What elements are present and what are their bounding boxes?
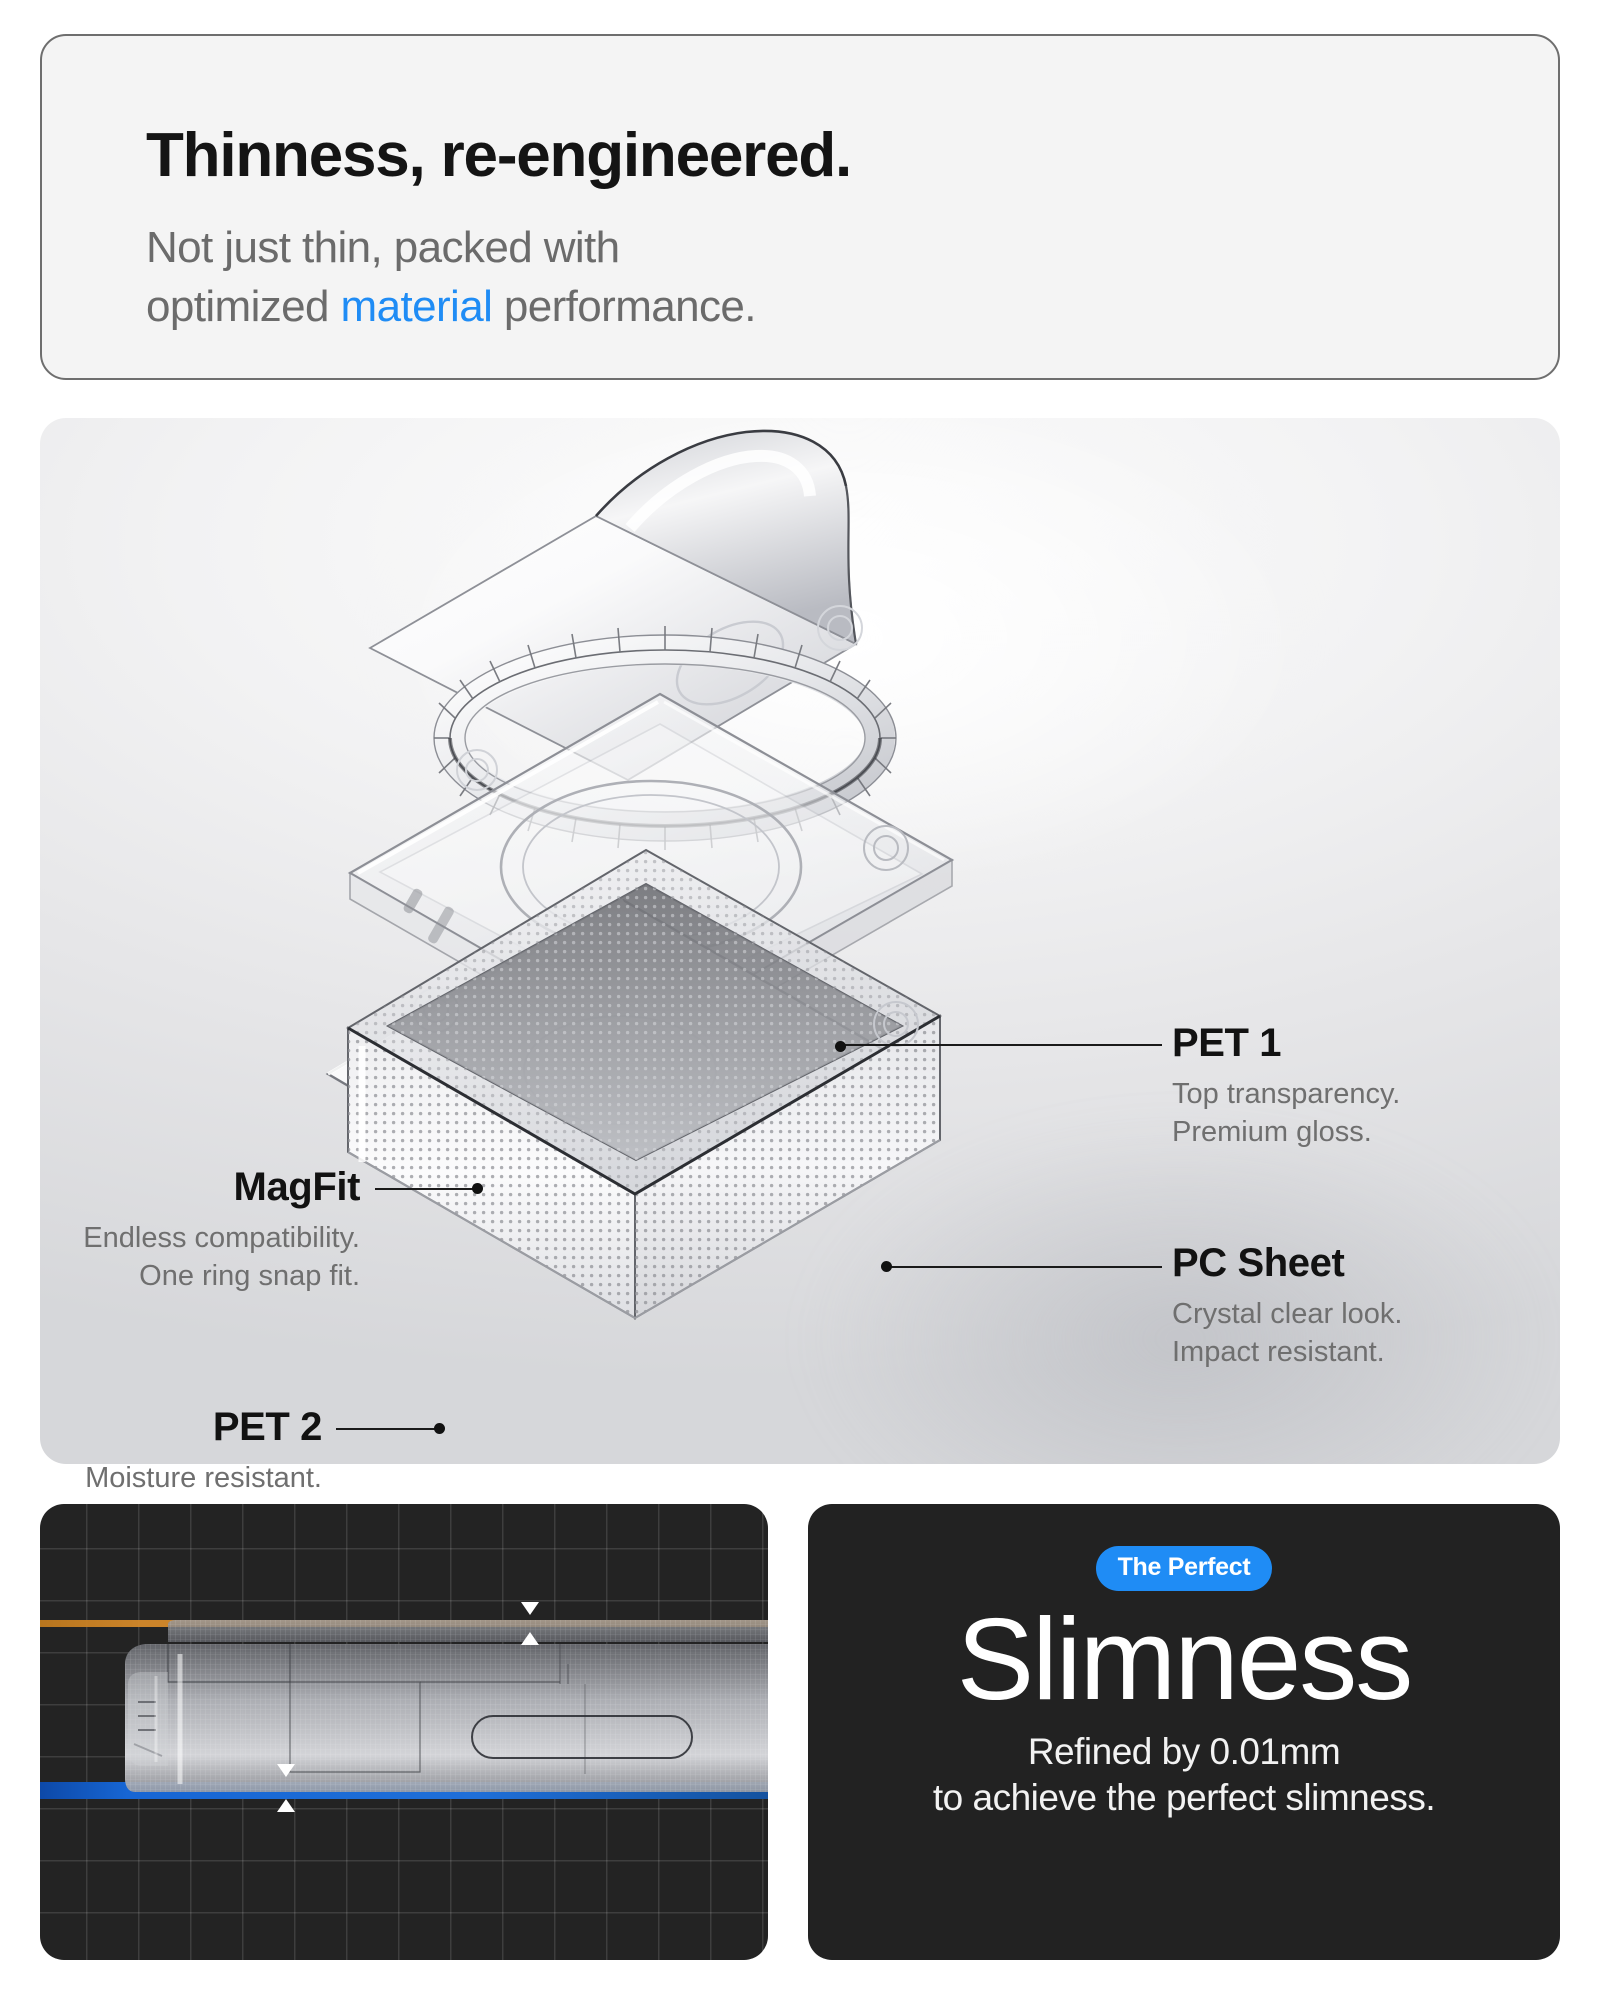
measurement-marker-top-inner xyxy=(521,1632,539,1645)
callout-desc-line1-pc-sheet: Crystal clear look. xyxy=(1172,1295,1402,1333)
subtitle-accent-word: material xyxy=(341,282,493,331)
leader-line-pet2 xyxy=(336,1428,440,1430)
slimness-subtitle: Refined by 0.01mm to achieve the perfect… xyxy=(808,1729,1560,1821)
leader-dot-pet1 xyxy=(835,1041,846,1052)
callout-title-pet-2: PET 2 xyxy=(40,1404,322,1450)
callout-desc-magfit: Endless compatibility. One ring snap fit… xyxy=(40,1219,360,1295)
page-subtitle-line2: optimized material performance. xyxy=(146,277,756,336)
callout-desc-line2-magfit: One ring snap fit. xyxy=(40,1257,360,1295)
measurement-marker-bottom-outer xyxy=(277,1764,295,1777)
case-cross-section-graphic xyxy=(40,1504,768,1960)
leader-dot-pet2 xyxy=(434,1423,445,1434)
leader-dot-pc-sheet xyxy=(881,1261,892,1272)
slimness-badge: The Perfect xyxy=(1096,1546,1273,1591)
callout-desc-line1-pet-2: Moisture resistant. xyxy=(40,1459,322,1497)
slimness-title: Slimness xyxy=(808,1597,1560,1721)
cad-measurement-panel xyxy=(40,1504,768,1960)
measurement-marker-top-outer xyxy=(521,1602,539,1615)
callout-desc-pc-sheet: Crystal clear look. Impact resistant. xyxy=(1172,1295,1402,1371)
page-subtitle-line1: Not just thin, packed with xyxy=(146,218,756,277)
page-title: Thinness, re-engineered. xyxy=(146,120,851,191)
exploded-diagram-panel: PET 1 Top transparency. Premium gloss. M… xyxy=(40,418,1560,1464)
page-subtitle: Not just thin, packed with optimized mat… xyxy=(146,218,756,336)
subtitle-post: performance. xyxy=(492,282,756,331)
callout-desc-line1-magfit: Endless compatibility. xyxy=(40,1219,360,1257)
callout-desc-line2-pc-sheet: Impact resistant. xyxy=(1172,1333,1402,1371)
callout-desc-pet-1: Top transparency. Premium gloss. xyxy=(1172,1075,1400,1151)
callout-title-pet-1: PET 1 xyxy=(1172,1020,1400,1066)
measurement-marker-bottom-inner xyxy=(277,1799,295,1812)
slimness-subtitle-line1: Refined by 0.01mm xyxy=(808,1729,1560,1775)
slimness-subtitle-line2: to achieve the perfect slimness. xyxy=(808,1775,1560,1821)
subtitle-pre: optimized xyxy=(146,282,341,331)
slimness-panel: The Perfect Slimness Refined by 0.01mm t… xyxy=(808,1504,1560,1960)
leader-dot-magfit xyxy=(472,1183,483,1194)
leader-line-pc-sheet xyxy=(886,1266,1162,1268)
callout-pc-sheet: PC Sheet Crystal clear look. Impact resi… xyxy=(1172,1240,1402,1371)
header-card: Thinness, re-engineered. Not just thin, … xyxy=(40,34,1560,380)
callout-desc-line2-pet-1: Premium gloss. xyxy=(1172,1113,1400,1151)
callout-magfit: MagFit Endless compatibility. One ring s… xyxy=(40,1164,360,1295)
callout-title-magfit: MagFit xyxy=(40,1164,360,1210)
callout-pet-1: PET 1 Top transparency. Premium gloss. xyxy=(1172,1020,1400,1151)
callout-desc-line1-pet-1: Top transparency. xyxy=(1172,1075,1400,1113)
leader-line-pet1 xyxy=(840,1044,1162,1046)
bottom-row: The Perfect Slimness Refined by 0.01mm t… xyxy=(40,1504,1560,1960)
leader-line-magfit xyxy=(375,1188,477,1190)
callout-title-pc-sheet: PC Sheet xyxy=(1172,1240,1402,1286)
